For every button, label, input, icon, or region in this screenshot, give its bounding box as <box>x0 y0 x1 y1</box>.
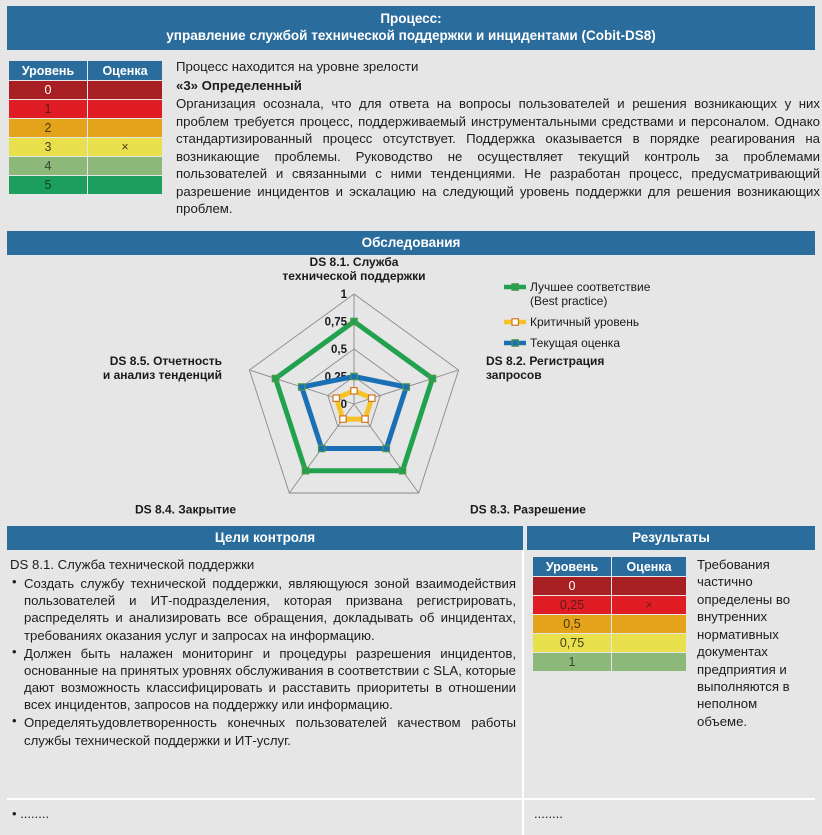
radar-data-point <box>383 445 389 451</box>
radar-data-point <box>369 395 375 401</box>
legend-label-1: Лучшее соответствие <box>530 280 651 294</box>
divider <box>7 798 815 800</box>
radar-data-point <box>429 375 435 381</box>
results-score-1: × <box>612 596 686 614</box>
goals-title: DS 8.1. Служба технической поддержки <box>10 556 516 573</box>
results-score-3 <box>612 634 686 652</box>
results-score-0 <box>612 577 686 595</box>
radar-category-label: DS 8.5. Отчетность <box>110 354 222 368</box>
radar-data-point <box>340 416 346 422</box>
radar-data-point <box>272 375 278 381</box>
maturity-score-4 <box>88 157 162 175</box>
radar-category-label: DS 8.2. Регистрация <box>486 354 604 368</box>
table-row: 1 <box>533 653 686 671</box>
maturity-score-0 <box>88 81 162 99</box>
results-col-score: Оценка <box>612 557 686 576</box>
maturity-level-2: 2 <box>9 119 87 137</box>
maturity-level-3: 3 <box>9 138 87 156</box>
results-level-2: 0,5 <box>533 615 611 633</box>
results-banner: Результаты <box>527 526 815 550</box>
description-lead: Процесс находится на уровне зрелости <box>176 58 820 76</box>
page-title-line1: Процесс: <box>380 11 441 28</box>
results-level-4: 1 <box>533 653 611 671</box>
survey-banner: Обследования <box>7 231 815 255</box>
maturity-col-score: Оценка <box>88 61 162 80</box>
radar-data-point <box>319 445 325 451</box>
legend-label-3: Текущая оценка <box>530 336 620 350</box>
list-item: Создать службу технической поддержки, яв… <box>10 575 516 644</box>
results-note: Требования частично определены во внутре… <box>697 556 809 730</box>
results-col-level: Уровень <box>533 557 611 576</box>
maturity-score-3: × <box>88 138 162 156</box>
maturity-description: Процесс находится на уровне зрелости «3»… <box>176 58 820 218</box>
radar-tick-label: 1 <box>341 289 348 301</box>
maturity-level-0: 0 <box>9 81 87 99</box>
results-score-2 <box>612 615 686 633</box>
table-row: 0 <box>533 577 686 595</box>
radar-data-point <box>351 318 357 324</box>
divider <box>7 223 815 229</box>
radar-category-label: DS 8.1. Служба <box>310 257 399 269</box>
radar-category-label: и анализ тенденций <box>103 368 222 382</box>
maturity-score-2 <box>88 119 162 137</box>
list-item: Должен быть налажен мониторинг и процеду… <box>10 645 516 714</box>
maturity-table: Уровень Оценка 0 1 2 3 × 4 5 <box>8 60 163 195</box>
page-title-line2: управление службой технической поддержки… <box>166 28 655 45</box>
radar-data-point <box>351 388 357 394</box>
list-item: Определятьудовлетворенность конечных пол… <box>10 714 516 748</box>
table-row: 1 <box>9 100 162 118</box>
table-row: 4 <box>9 157 162 175</box>
slide-page: Процесс: управление службой технической … <box>0 0 822 835</box>
maturity-level-5: 5 <box>9 176 87 194</box>
legend-marker-1 <box>512 284 518 290</box>
results-column: Уровень Оценка 0 0,25 × 0,5 0,75 1 <box>532 556 816 730</box>
results-footer-dots: ........ <box>534 806 563 821</box>
legend-marker-3 <box>512 340 518 346</box>
maturity-col-level: Уровень <box>9 61 87 80</box>
table-header-row: Уровень Оценка <box>533 557 686 576</box>
radar-category-label: технической поддержки <box>282 269 425 283</box>
table-row: 0,5 <box>533 615 686 633</box>
table-row: 0,25 × <box>533 596 686 614</box>
radar-data-point <box>299 384 305 390</box>
goals-column: DS 8.1. Служба технической поддержки Соз… <box>10 556 516 750</box>
legend-marker-2 <box>512 319 518 325</box>
results-table: Уровень Оценка 0 0,25 × 0,5 0,75 1 <box>532 556 687 672</box>
goals-banner: Цели контроля <box>7 526 523 550</box>
maturity-score-1 <box>88 100 162 118</box>
table-row: 5 <box>9 176 162 194</box>
radar-data-point <box>351 373 357 379</box>
goals-bullet-list: Создать службу технической поддержки, яв… <box>10 575 516 749</box>
legend-label-2: Критичный уровень <box>530 315 639 329</box>
table-row: 0 <box>9 81 162 99</box>
description-body: Организация осознала, что для ответа на … <box>176 95 820 218</box>
radar-category-label: инцидента <box>173 517 237 521</box>
radar-data-point <box>399 468 405 474</box>
legend-label-1: (Best practice) <box>530 294 607 308</box>
description-level: «3» Определенный <box>176 77 820 95</box>
radar-data-point <box>362 416 368 422</box>
radar-data-point <box>302 468 308 474</box>
radar-category-label: DS 8.3. Разрешение <box>470 503 586 517</box>
results-score-4 <box>612 653 686 671</box>
table-row: 0,75 <box>533 634 686 652</box>
table-row: 2 <box>9 119 162 137</box>
radar-category-label: запросов <box>486 368 542 382</box>
radar-chart: 00,250,50,751DS 8.1. Службатехнической п… <box>7 257 815 520</box>
table-header-row: Уровень Оценка <box>9 61 162 80</box>
radar-category-label: инцидентов <box>470 517 541 521</box>
radar-category-label: DS 8.4. Закрытие <box>135 503 236 517</box>
goals-footer-dots: • ........ <box>12 806 49 821</box>
radar-data-point <box>333 395 339 401</box>
radar-tick-label: 0,5 <box>331 344 348 356</box>
table-row: 3 × <box>9 138 162 156</box>
maturity-score-5 <box>88 176 162 194</box>
results-level-1: 0,25 <box>533 596 611 614</box>
column-divider <box>522 550 524 835</box>
results-level-3: 0,75 <box>533 634 611 652</box>
radar-data-point <box>403 384 409 390</box>
radar-chart-svg: 00,250,50,751DS 8.1. Службатехнической п… <box>7 257 815 520</box>
maturity-level-1: 1 <box>9 100 87 118</box>
results-level-0: 0 <box>533 577 611 595</box>
page-title: Процесс: управление службой технической … <box>7 6 815 50</box>
maturity-level-4: 4 <box>9 157 87 175</box>
